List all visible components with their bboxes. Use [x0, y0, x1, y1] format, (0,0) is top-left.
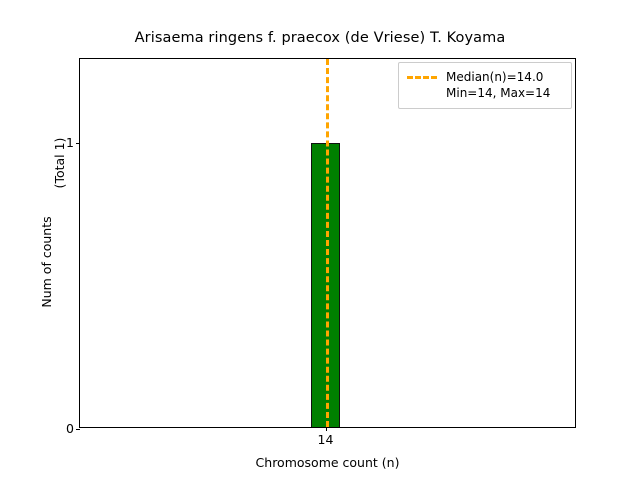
y-axis-label-total: (Total 1): [54, 138, 67, 189]
page-title: Arisaema ringens f. praecox (de Vriese) …: [0, 30, 640, 46]
y-axis-label-main: Num of counts: [41, 216, 54, 307]
legend-label-median: Median(n)=14.0: [446, 69, 543, 85]
x-axis-label: Chromosome count (n): [79, 455, 576, 470]
ytick-label-1: 1: [66, 137, 74, 150]
legend-label-minmax: Min=14, Max=14: [446, 85, 550, 101]
ytick-label-0: 0: [66, 423, 74, 436]
chart-legend: Median(n)=14.0 Min=14, Max=14: [398, 62, 572, 109]
plot-area: [80, 59, 575, 427]
xtick-label-14: 14: [318, 434, 334, 447]
legend-entry-minmax: Min=14, Max=14: [407, 85, 563, 101]
chart-figure: Arisaema ringens f. praecox (de Vriese) …: [0, 0, 640, 480]
legend-entry-median: Median(n)=14.0: [407, 69, 563, 85]
median-line: [326, 59, 329, 427]
dashed-line-icon: [407, 76, 437, 79]
plot-axes: 0 1 14: [79, 58, 576, 428]
